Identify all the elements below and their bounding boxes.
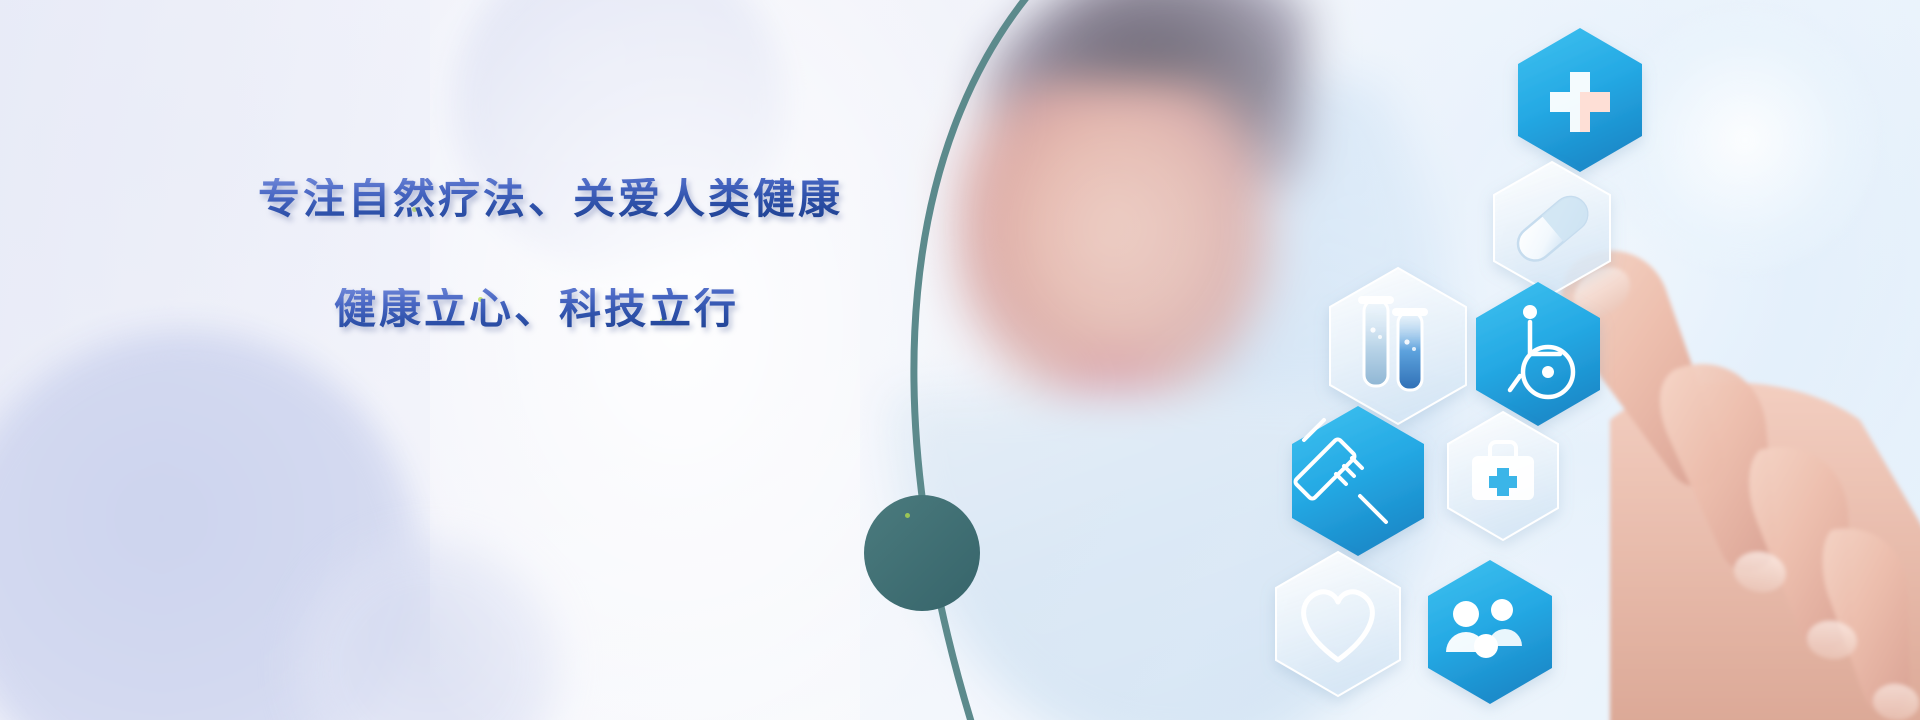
hex-testtube	[1330, 268, 1466, 424]
left-gradient-wash	[0, 0, 900, 720]
headline-line-1: 专注自然疗法、关爱人类健康	[258, 178, 878, 220]
headline-line-2: 健康立心、科技立行	[334, 288, 878, 330]
teal-dot	[864, 495, 980, 611]
teal-arc-group	[860, 0, 1170, 720]
hexagon-icon-cluster	[1240, 0, 1920, 720]
hex-heart	[1276, 552, 1400, 696]
photo-panel	[860, 0, 1920, 720]
speck	[905, 513, 910, 518]
headline-block: 专注自然疗法、关爱人类健康 健康立心、科技立行	[258, 178, 878, 330]
hex-syringe	[1292, 406, 1424, 556]
hex-cross	[1518, 28, 1642, 172]
hex-medbag	[1448, 412, 1558, 540]
decorative-circle-small	[300, 540, 560, 720]
hex-wheelchair	[1476, 282, 1600, 426]
teal-arc	[914, 0, 1050, 720]
decorative-circle-bottom-left	[0, 330, 420, 720]
hex-pill	[1494, 162, 1610, 294]
hex-people	[1428, 560, 1552, 704]
hero-banner: 专注自然疗法、关爱人类健康 健康立心、科技立行	[0, 0, 1920, 720]
